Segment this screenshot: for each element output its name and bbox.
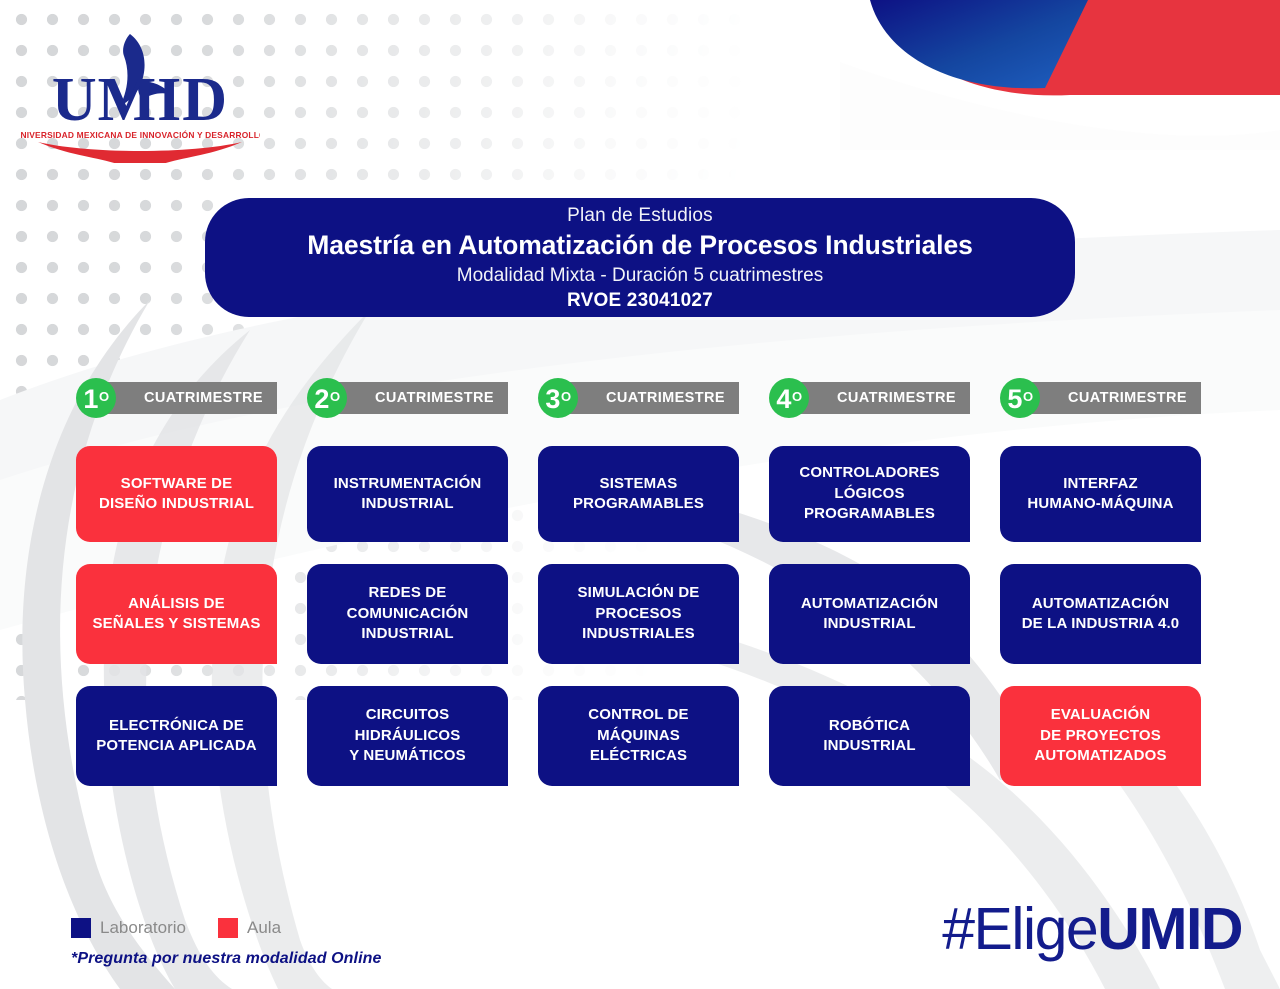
term-label-4: CUATRIMESTRE (837, 390, 956, 406)
term-number-3: 3 (545, 386, 560, 413)
term-number-1: 1 (83, 386, 98, 413)
term-header-1: CUATRIMESTRE 1 O (76, 378, 277, 418)
course-card[interactable]: SIMULACIÓN DEPROCESOSINDUSTRIALES (538, 564, 739, 664)
footnote: *Pregunta por nuestra modalidad Online (71, 950, 382, 968)
course-card[interactable]: ELECTRÓNICA DEPOTENCIA APLICADA (76, 686, 277, 786)
term-header-row: CUATRIMESTRE 1 O CUATRIMESTRE 2 O CUATRI… (76, 378, 1211, 418)
course-card[interactable]: SOFTWARE DEDISEÑO INDUSTRIAL (76, 446, 277, 542)
legend-swatch-lab-icon (71, 918, 91, 938)
course-name: ANÁLISIS DESEÑALES Y SISTEMAS (92, 594, 260, 635)
legend-item-laboratorio: Laboratorio (71, 918, 186, 938)
course-row-3: ELECTRÓNICA DEPOTENCIA APLICADA CIRCUITO… (76, 686, 1211, 786)
course-name: INTERFAZHUMANO-MÁQUINA (1027, 474, 1173, 515)
term-badge-1: 1 O (76, 378, 116, 418)
course-card[interactable]: REDES DECOMUNICACIÓNINDUSTRIAL (307, 564, 508, 664)
hashtag-light-part: #Elige (942, 896, 1097, 962)
term-ordinal-2: O (330, 389, 340, 404)
title-banner: Plan de Estudios Maestría en Automatizac… (205, 198, 1075, 317)
term-ordinal-4: O (792, 389, 802, 404)
term-badge-3: 3 O (538, 378, 578, 418)
corner-swoosh-decoration (840, 0, 1280, 150)
banner-rvoe: RVOE 23041027 (205, 289, 1075, 313)
course-card[interactable]: CIRCUITOSHIDRÁULICOSY NEUMÁTICOS (307, 686, 508, 786)
banner-eyebrow: Plan de Estudios (205, 204, 1075, 228)
course-name: SOFTWARE DEDISEÑO INDUSTRIAL (99, 474, 254, 515)
term-badge-2: 2 O (307, 378, 347, 418)
course-name: ROBÓTICAINDUSTRIAL (823, 716, 915, 757)
course-name: SISTEMASPROGRAMABLES (573, 474, 704, 515)
term-badge-4: 4 O (769, 378, 809, 418)
term-label-2: CUATRIMESTRE (375, 390, 494, 406)
term-label-5: CUATRIMESTRE (1068, 390, 1187, 406)
hashtag-eligeumid: #EligeUMID (942, 898, 1242, 960)
term-number-4: 4 (776, 386, 791, 413)
legend: Laboratorio Aula (71, 918, 303, 938)
course-card[interactable]: INSTRUMENTACIÓNINDUSTRIAL (307, 446, 508, 542)
term-bar-1: CUATRIMESTRE (106, 382, 277, 414)
term-bar-4: CUATRIMESTRE (799, 382, 970, 414)
course-card[interactable]: INTERFAZHUMANO-MÁQUINA (1000, 446, 1201, 542)
legend-item-aula: Aula (218, 918, 281, 938)
legend-label-aula: Aula (247, 918, 281, 938)
course-card[interactable]: CONTROLADORESLÓGICOSPROGRAMABLES (769, 446, 970, 542)
term-header-4: CUATRIMESTRE 4 O (769, 378, 970, 418)
course-card[interactable]: AUTOMATIZACIÓNDE LA INDUSTRIA 4.0 (1000, 564, 1201, 664)
course-card[interactable]: AUTOMATIZACIÓNINDUSTRIAL (769, 564, 970, 664)
term-bar-5: CUATRIMESTRE (1030, 382, 1201, 414)
term-header-5: CUATRIMESTRE 5 O (1000, 378, 1201, 418)
course-name: INSTRUMENTACIÓNINDUSTRIAL (334, 474, 482, 515)
hashtag-bold-part: UMID (1097, 896, 1242, 962)
course-name: ELECTRÓNICA DEPOTENCIA APLICADA (96, 716, 257, 757)
course-card[interactable]: CONTROL DEMÁQUINASELÉCTRICAS (538, 686, 739, 786)
term-number-2: 2 (314, 386, 329, 413)
umid-logo: UMID UNIVERSIDAD MEXICANA DE INNOVACIÓN … (20, 28, 260, 163)
term-badge-5: 5 O (1000, 378, 1040, 418)
term-number-5: 5 (1007, 386, 1022, 413)
course-name: SIMULACIÓN DEPROCESOSINDUSTRIALES (578, 583, 700, 645)
term-bar-3: CUATRIMESTRE (568, 382, 739, 414)
course-row-2: ANÁLISIS DESEÑALES Y SISTEMAS REDES DECO… (76, 564, 1211, 664)
course-name: REDES DECOMUNICACIÓNINDUSTRIAL (347, 583, 469, 645)
course-card[interactable]: ROBÓTICAINDUSTRIAL (769, 686, 970, 786)
term-bar-2: CUATRIMESTRE (337, 382, 508, 414)
svg-text:UMID: UMID (52, 66, 228, 134)
course-name: EVALUACIÓNDE PROYECTOSAUTOMATIZADOS (1034, 705, 1166, 767)
course-card[interactable]: EVALUACIÓNDE PROYECTOSAUTOMATIZADOS (1000, 686, 1201, 786)
term-ordinal-3: O (561, 389, 571, 404)
course-name: AUTOMATIZACIÓNDE LA INDUSTRIA 4.0 (1022, 594, 1180, 635)
legend-swatch-aula-icon (218, 918, 238, 938)
term-header-2: CUATRIMESTRE 2 O (307, 378, 508, 418)
study-plan-poster: UMID UNIVERSIDAD MEXICANA DE INNOVACIÓN … (0, 0, 1280, 989)
legend-label-laboratorio: Laboratorio (100, 918, 186, 938)
course-card[interactable]: SISTEMASPROGRAMABLES (538, 446, 739, 542)
course-card[interactable]: ANÁLISIS DESEÑALES Y SISTEMAS (76, 564, 277, 664)
curriculum-grid: CUATRIMESTRE 1 O CUATRIMESTRE 2 O CUATRI… (76, 378, 1211, 808)
course-row-1: SOFTWARE DEDISEÑO INDUSTRIAL INSTRUMENTA… (76, 446, 1211, 542)
banner-subtitle: Modalidad Mixta - Duración 5 cuatrimestr… (205, 263, 1075, 288)
course-name: AUTOMATIZACIÓNINDUSTRIAL (801, 594, 938, 635)
svg-text:UNIVERSIDAD MEXICANA DE INNOVA: UNIVERSIDAD MEXICANA DE INNOVACIÓN Y DES… (20, 129, 260, 140)
term-label-3: CUATRIMESTRE (606, 390, 725, 406)
term-ordinal-5: O (1023, 389, 1033, 404)
term-label-1: CUATRIMESTRE (144, 390, 263, 406)
course-name: CIRCUITOSHIDRÁULICOSY NEUMÁTICOS (349, 705, 466, 767)
page-title: Maestría en Automatización de Procesos I… (205, 229, 1075, 262)
course-name: CONTROLADORESLÓGICOSPROGRAMABLES (799, 463, 939, 525)
term-header-3: CUATRIMESTRE 3 O (538, 378, 739, 418)
term-ordinal-1: O (99, 389, 109, 404)
course-name: CONTROL DEMÁQUINASELÉCTRICAS (588, 705, 688, 767)
